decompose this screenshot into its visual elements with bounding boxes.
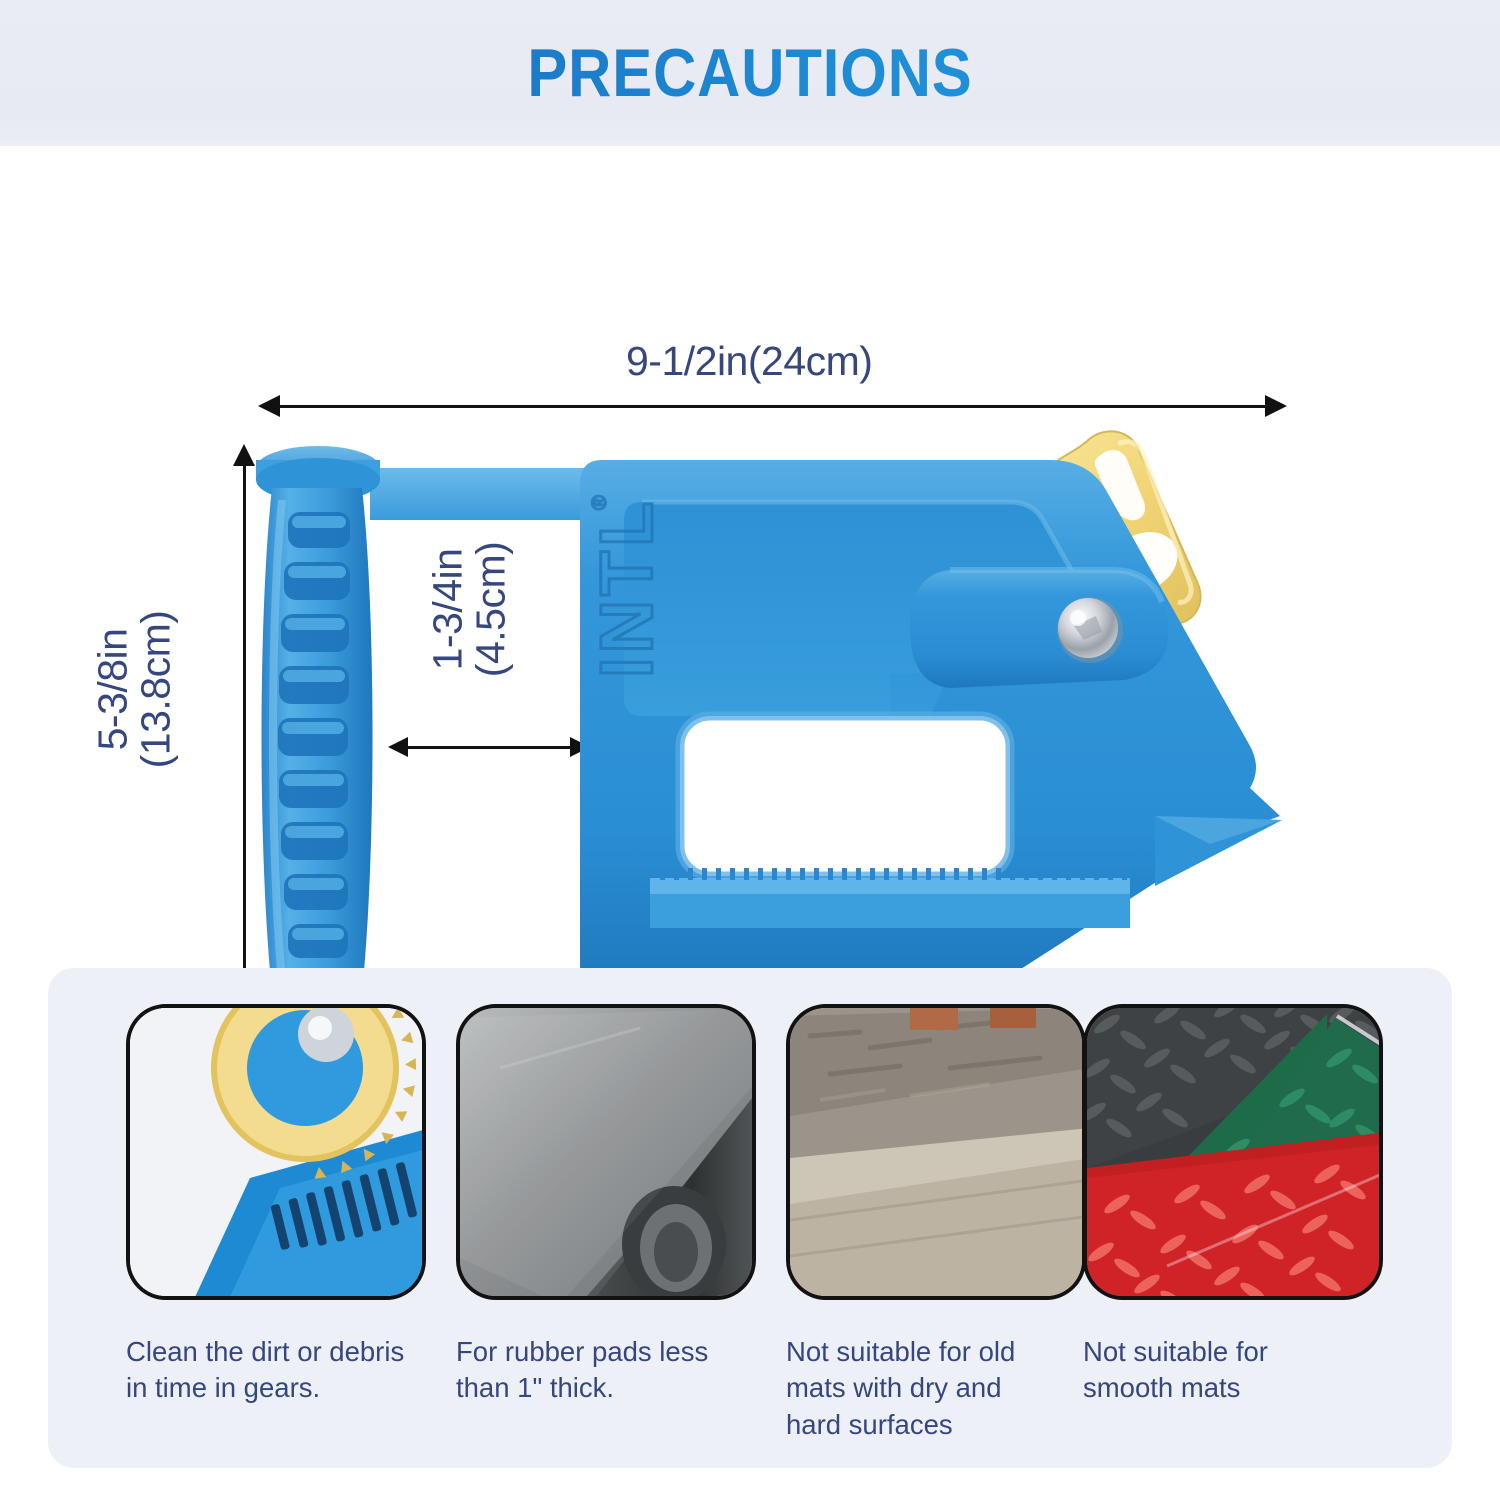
- precaution-caption: For rubber pads less than 1" thick.: [456, 1334, 756, 1407]
- dimension-label-height: 5-3/8in (13.8cm): [92, 559, 179, 819]
- arrow-right-icon: [1265, 395, 1287, 417]
- list-item: For rubber pads less than 1" thick.: [456, 1004, 756, 1407]
- dimension-label-height-line2: (13.8cm): [135, 559, 178, 819]
- registered-mark-icon: ®: [589, 495, 611, 510]
- pivot-rivet: [1057, 597, 1123, 663]
- brand-emboss-text: INTL: [585, 498, 668, 678]
- pivot-arm-plate: [910, 570, 1168, 688]
- gear-closeup-photo: [126, 1004, 426, 1300]
- product-illustration: INTL ®: [250, 416, 1310, 1056]
- dimension-line-height: [243, 454, 246, 1026]
- precaution-caption: Not suitable for old mats with dry and h…: [786, 1334, 1086, 1443]
- list-item: Not suitable for smooth mats: [1083, 1004, 1383, 1407]
- brand-emboss-logo: INTL ®: [585, 495, 668, 678]
- old-dry-mat-photo: [786, 1004, 1086, 1300]
- dimension-line-width: [268, 405, 1278, 408]
- dimension-label-height-line1: 5-3/8in: [92, 559, 135, 819]
- precaution-panel: Clean the dirt or debris in time in gear…: [48, 968, 1452, 1468]
- dimension-label-width: 9-1/2in(24cm): [626, 338, 872, 385]
- arrow-left-icon: [258, 395, 280, 417]
- precaution-list: Clean the dirt or debris in time in gear…: [48, 968, 1452, 1468]
- tool-handle-grip: [250, 446, 380, 1034]
- list-item: Clean the dirt or debris in time in gear…: [126, 1004, 426, 1407]
- list-item: Not suitable for old mats with dry and h…: [786, 1004, 1086, 1443]
- precaution-caption: Not suitable for smooth mats: [1083, 1334, 1383, 1407]
- rubber-sheet-photo: [456, 1004, 756, 1300]
- product-hero-section: 9-1/2in(24cm) 5-3/8in (13.8cm) 1-3/4in (…: [0, 146, 1500, 970]
- precaution-caption: Clean the dirt or debris in time in gear…: [126, 1334, 426, 1407]
- diamond-plate-mats-photo: [1083, 1004, 1383, 1300]
- page-title: PRECAUTIONS: [90, 34, 1410, 112]
